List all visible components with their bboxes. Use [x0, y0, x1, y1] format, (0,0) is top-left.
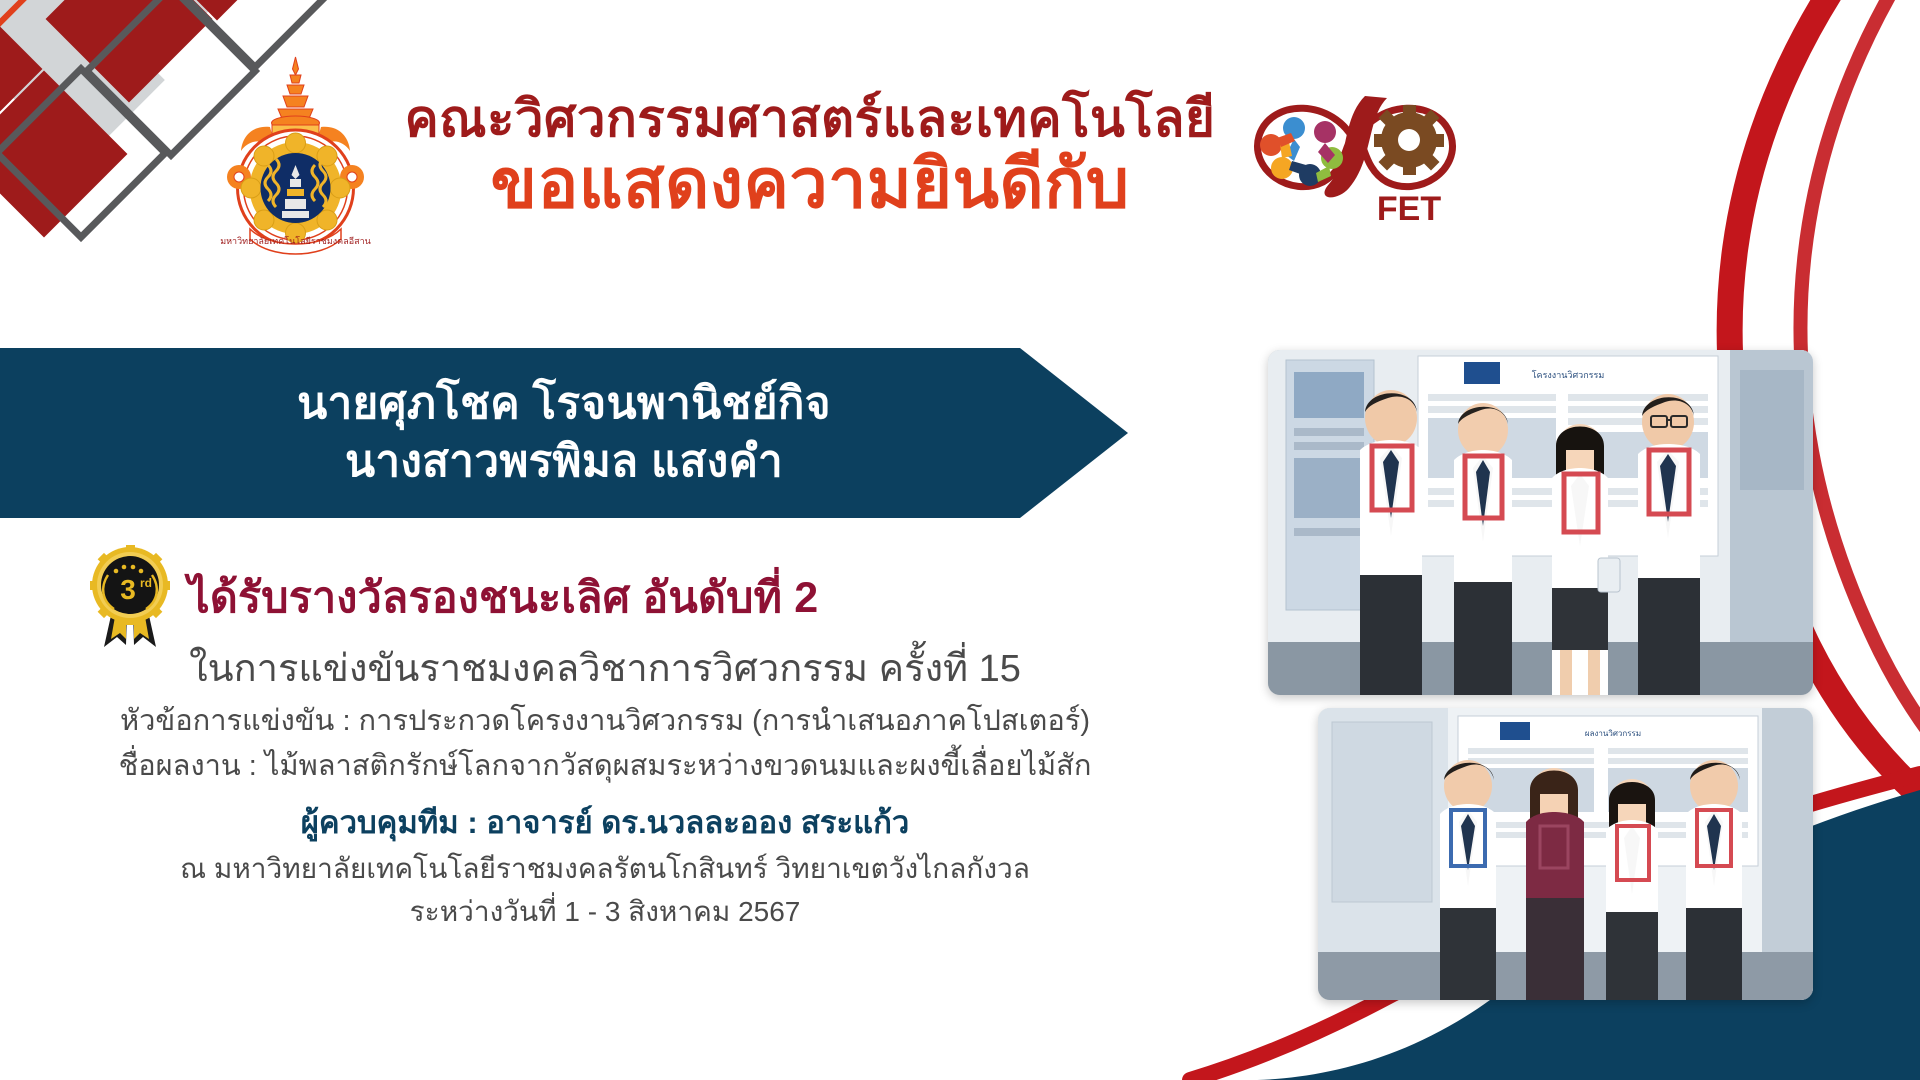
recipient-name-1: นายศุภโชค โรจนพานิชย์กิจ: [297, 375, 831, 433]
event-venue: ณ มหาวิทยาลัยเทคโนโลยีราชมงคลรัตนโกสินทร…: [0, 847, 1210, 890]
team-advisor: ผู้ควบคุมทีม : อาจารย์ ดร.นวลละออง สระแก…: [0, 799, 1210, 847]
svg-text:โครงงานวิศวกรรม: โครงงานวิศวกรรม: [1532, 370, 1605, 380]
project-title: ชื่อผลงาน : ไม้พลาสติกรักษ์โลกจากวัสดุผส…: [0, 744, 1210, 789]
fet-wordmark: FET: [1377, 190, 1441, 228]
details-block: ในการแข่งขันราชมงคลวิชาการวิศวกรรม ครั้ง…: [0, 640, 1210, 934]
banner-canvas: มหาวิทยาลัยเทคโนโลยีราชมงคลอีสาน คณะวิศว…: [0, 0, 1920, 1080]
award-title: ได้รับรางวัลรองชนะเลิศ อันดับที่ 2: [188, 563, 818, 631]
medal-rank-suffix: rd: [140, 576, 152, 590]
header: มหาวิทยาลัยเทคโนโลยีราชมงคลอีสาน คณะวิศว…: [0, 40, 1680, 270]
event-date: ระหว่างวันที่ 1 - 3 สิงหาคม 2567: [0, 890, 1210, 933]
rmutsv-emblem-icon: มหาวิทยาลัยเทคโนโลยีราชมงคลอีสาน: [208, 53, 383, 258]
medal-rank-number: 3: [120, 574, 136, 605]
fet-logo-icon: FET: [1237, 80, 1472, 230]
header-text-block: คณะวิศวกรรมศาสตร์และเทคโนโลยี ขอแสดงความ…: [405, 93, 1216, 218]
photo-group-four-students-poster: โครงงานวิศวกรรม: [1268, 350, 1813, 695]
photo-group-students-poster-second: ผลงานวิศวกรรม: [1318, 708, 1813, 1000]
svg-text:มหาวิทยาลัยเทคโนโลยีราชมงคลอีส: มหาวิทยาลัยเทคโนโลยีราชมงคลอีสาน: [220, 236, 371, 246]
competition-name: ในการแข่งขันราชมงคลวิชาการวิศวกรรม ครั้ง…: [0, 640, 1210, 699]
faculty-name: คณะวิศวกรรมศาสตร์และเทคโนโลยี: [405, 93, 1216, 144]
congratulations-title: ขอแสดงความยินดีกับ: [405, 150, 1216, 218]
third-place-medal-icon: 3 rd: [86, 545, 174, 649]
fet-logo: FET: [1237, 80, 1472, 230]
photo-1-illustration: โครงงานวิศวกรรม: [1268, 350, 1813, 695]
award-row: 3 rd ได้รับรางวัลรองชนะเลิศ อันดับที่ 2: [86, 545, 1006, 649]
svg-text:ผลงานวิศวกรรม: ผลงานวิศวกรรม: [1585, 729, 1641, 738]
competition-topic: หัวข้อการแข่งขัน : การประกวดโครงงานวิศวก…: [0, 699, 1210, 744]
recipient-name-banner: นายศุภโชค โรจนพานิชย์กิจ นางสาวพรพิมล แส…: [0, 348, 1128, 518]
photo-2-illustration: ผลงานวิศวกรรม: [1318, 708, 1813, 1000]
recipient-name-2: นางสาวพรพิมล แสงคำ: [345, 433, 783, 491]
